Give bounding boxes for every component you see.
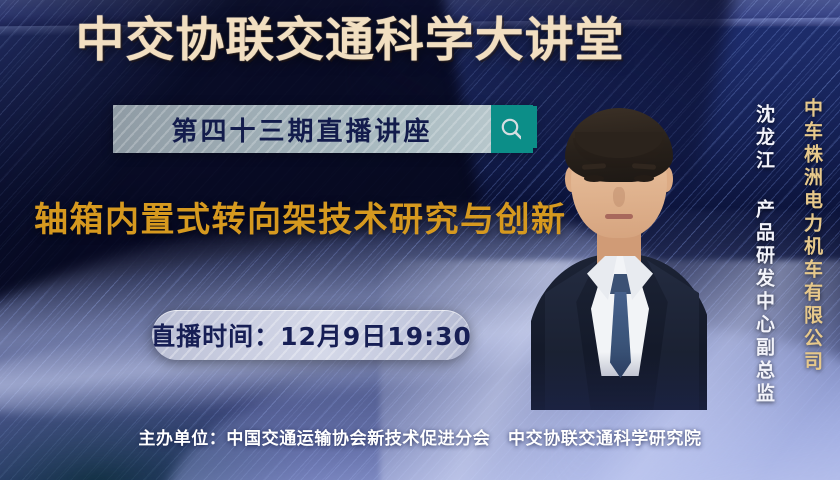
portrait-mouth: [605, 214, 633, 219]
episode-banner: 第四十三期直播讲座: [113, 105, 533, 153]
speaker-portrait: [531, 104, 707, 410]
organizer-footer: 主办单位：中国交通运输协会新技术促进分会 中交协联交通科学研究院: [0, 424, 840, 449]
topic-title: 轴箱内置式转向架技术研究与创新: [34, 192, 567, 241]
episode-label: 第四十三期直播讲座: [171, 111, 432, 148]
episode-banner-body: 第四十三期直播讲座: [113, 105, 491, 153]
speaker-company: 中车株洲电力机车有限公司: [799, 98, 826, 374]
live-time-text: 直播时间：12月9日19:30: [152, 317, 470, 353]
portrait-eye-right: [634, 175, 654, 182]
portrait-nose: [613, 187, 625, 207]
live-time-badge: 直播时间：12月9日19:30: [152, 310, 470, 360]
portrait-eye-left: [584, 175, 604, 182]
webinar-poster: 中交协联交通科学大讲堂 第四十三期直播讲座: [0, 0, 840, 480]
portrait-bottom-fade: [531, 352, 707, 410]
page-title: 中交协联交通科学大讲堂: [0, 16, 714, 67]
speaker-name-title: 沈龙江 产品研发中心副总监: [751, 104, 778, 406]
